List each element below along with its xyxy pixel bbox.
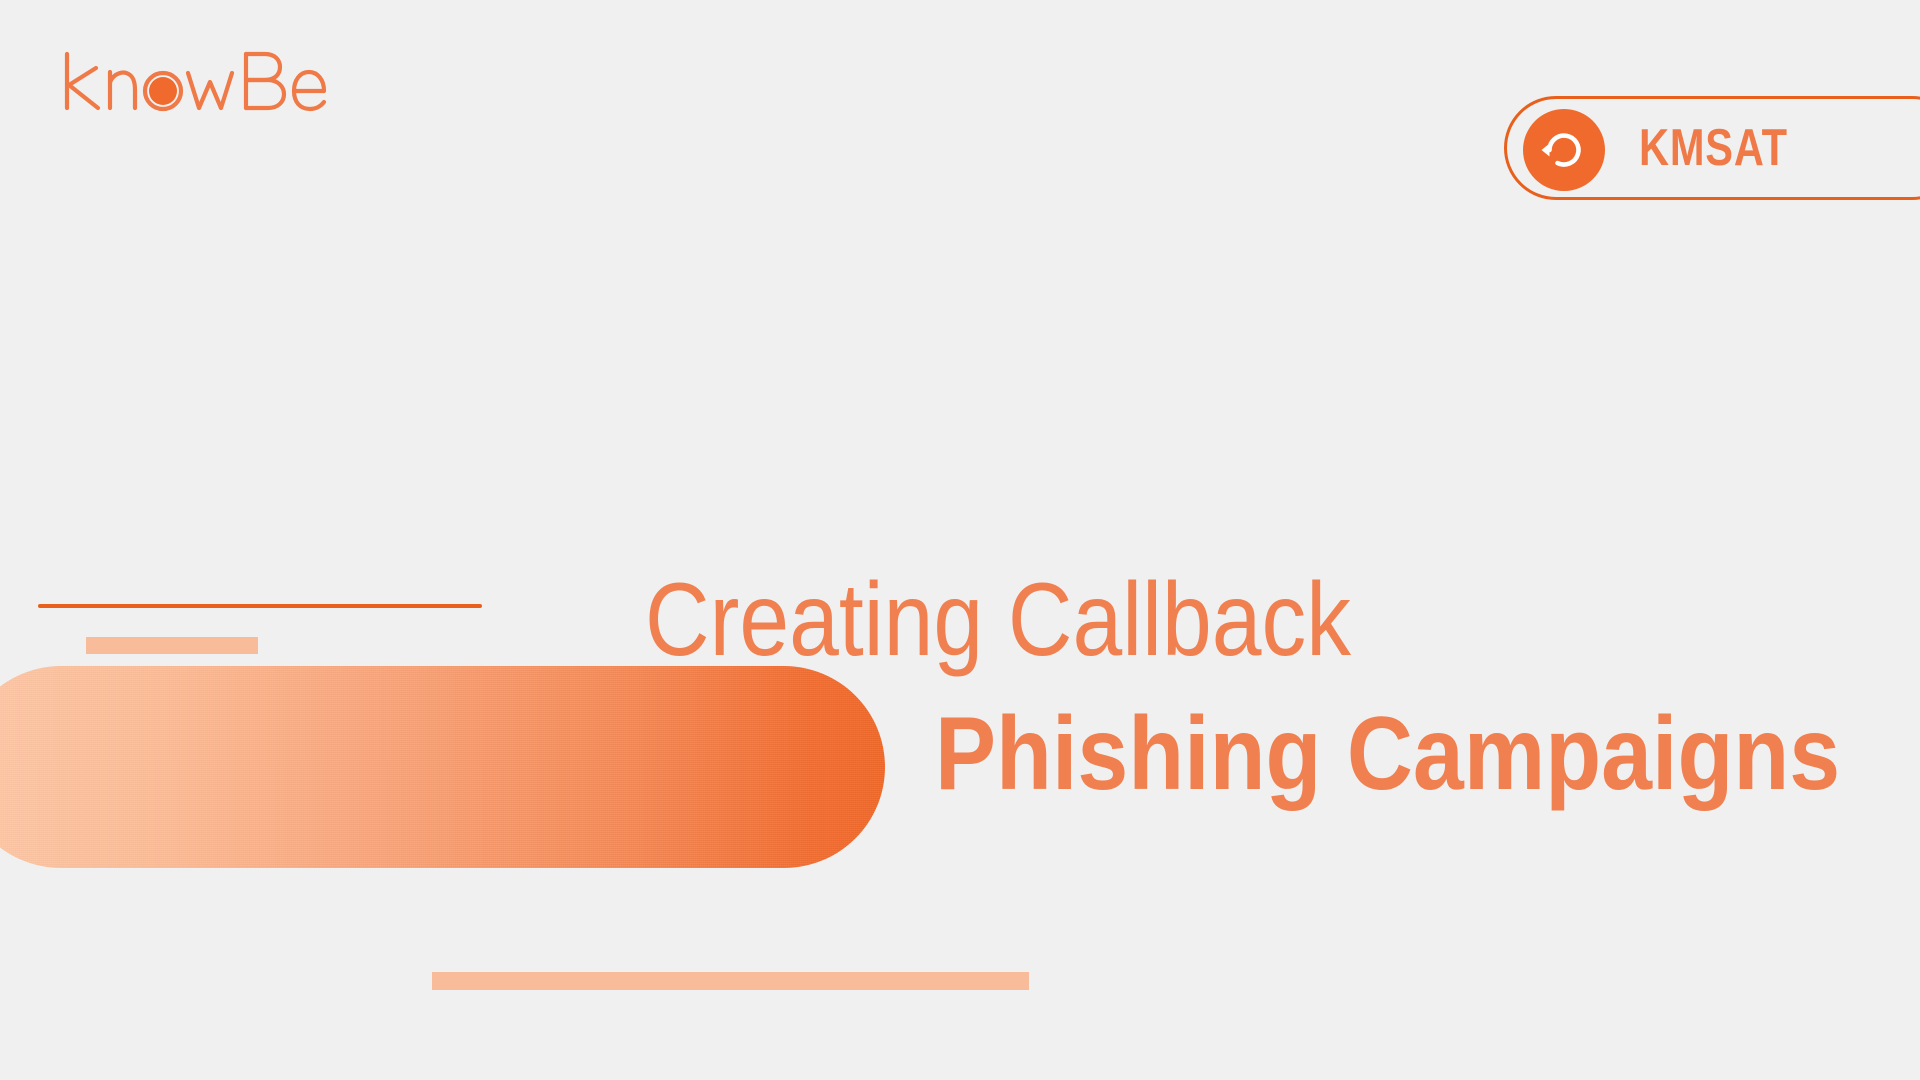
kmsat-label: KMSAT bbox=[1639, 118, 1788, 178]
decorative-bottom-peach-bar bbox=[432, 972, 1029, 990]
knowbe4-logo-dot bbox=[149, 77, 177, 105]
decorative-gradient-pill-bar bbox=[0, 666, 885, 868]
kmsat-badge[interactable]: KMSAT bbox=[1504, 96, 1920, 200]
page-title-line-1: Creating Callback bbox=[645, 566, 1351, 675]
decorative-thin-rule bbox=[38, 604, 482, 608]
knowbe4-logo bbox=[62, 46, 332, 116]
knowbe4-logo-icon bbox=[62, 46, 332, 116]
title-slide: KMSAT Creating Callback Phishing Campaig… bbox=[0, 0, 1920, 1080]
refresh-arrow-icon bbox=[1539, 125, 1589, 175]
page-title-line-2: Phishing Campaigns bbox=[935, 700, 1840, 809]
kmsat-badge-circle bbox=[1523, 109, 1605, 191]
decorative-small-peach-bar bbox=[86, 637, 258, 654]
